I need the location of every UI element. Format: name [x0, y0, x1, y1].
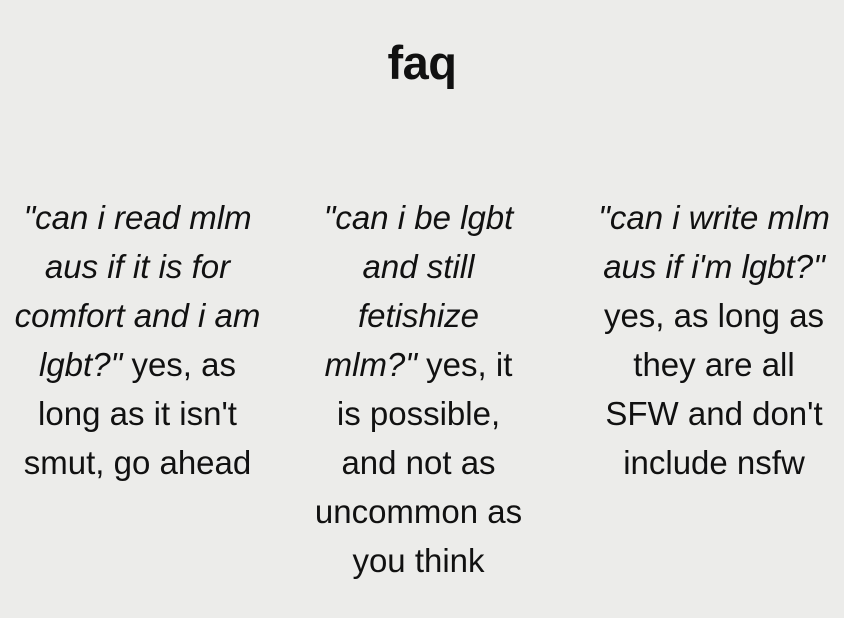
faq-answer: yes, as long as they are all SFW and don…	[604, 297, 824, 481]
faq-item: "can i read mlm aus if it is for comfort…	[14, 193, 261, 487]
faq-page: faq "can i read mlm aus if it is for com…	[0, 0, 844, 582]
faq-item: "can i be lgbt and still fetishize mlm?"…	[310, 193, 528, 585]
faq-item: "can i write mlm aus if i'm lgbt?" yes, …	[598, 193, 830, 487]
faq-list: "can i read mlm aus if it is for comfort…	[0, 160, 844, 618]
faq-question: "can i write mlm aus if i'm lgbt?"	[598, 199, 830, 285]
page-title: faq	[0, 34, 844, 92]
